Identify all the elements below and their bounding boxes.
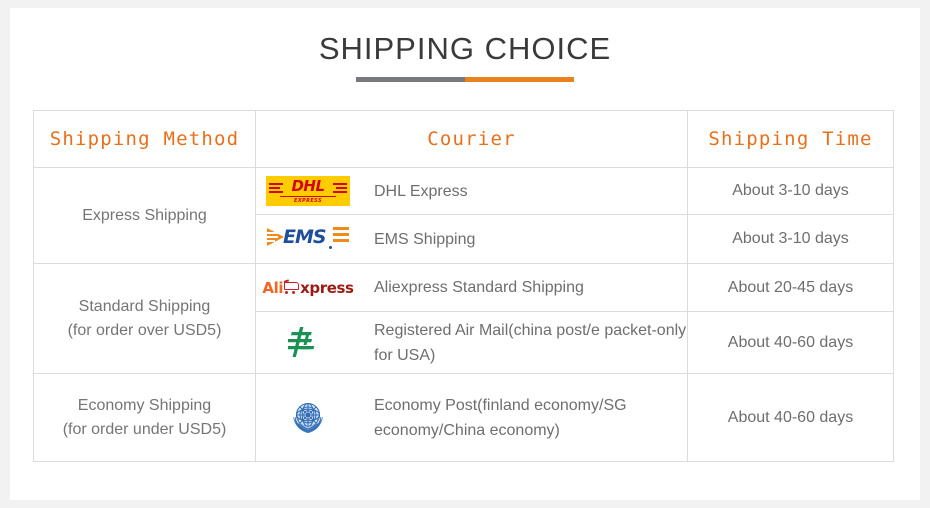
method-label: Express Shipping (34, 204, 255, 228)
shipping-table: Shipping Method Courier Shipping Time Ex… (33, 110, 894, 462)
header-shipping-method: Shipping Method (34, 111, 256, 168)
method-label: Economy Shipping (34, 394, 255, 418)
china-post-emblem-icon (288, 323, 328, 363)
header-courier: Courier (256, 111, 688, 168)
method-cell-standard: Standard Shipping (for order over USD5) (34, 264, 256, 374)
aliexpress-logo-part2: xpress (300, 280, 353, 296)
ems-logo-word: EMS (283, 227, 326, 248)
dhl-logo: DHL EXPRESS (256, 176, 360, 206)
courier-label: Economy Post(finland economy/SG economy/… (374, 393, 687, 443)
dhl-logo-sub: EXPRESS (266, 198, 350, 204)
courier-label: DHL Express (374, 179, 468, 204)
shipping-choice-card: SHIPPING CHOICE Shipping Method Courier … (10, 8, 920, 500)
time-cell: About 3-10 days (688, 168, 894, 215)
courier-cell-china-post: Registered Air Mail(china post/e packet-… (256, 312, 688, 374)
table-row: Express Shipping DHL EXPRESS (34, 168, 894, 215)
united-nations-emblem-icon (286, 396, 330, 440)
header-shipping-time: Shipping Time (688, 111, 894, 168)
china-post-logo (256, 323, 360, 363)
courier-label: EMS Shipping (374, 227, 475, 252)
title-underline-right (465, 77, 574, 82)
table-row: Economy Shipping (for order under USD5) (34, 374, 894, 462)
aliexpress-logo: Ali xpress (256, 280, 360, 296)
courier-cell-economy-post: Economy Post(finland economy/SG economy/… (256, 374, 688, 462)
courier-label: Registered Air Mail(china post/e packet-… (374, 318, 687, 368)
method-cell-economy: Economy Shipping (for order under USD5) (34, 374, 256, 462)
method-label: Standard Shipping (34, 295, 255, 319)
method-note: (for order over USD5) (34, 319, 255, 343)
courier-cell-dhl: DHL EXPRESS DHL Express (256, 168, 688, 215)
ems-logo: EMS (256, 225, 360, 253)
time-cell: About 40-60 days (688, 374, 894, 462)
time-cell: About 20-45 days (688, 264, 894, 312)
shopping-cart-icon (284, 281, 299, 294)
title-underline-left (356, 77, 465, 82)
courier-cell-aliexpress: Ali xpress Aliexpress Standard Shi (256, 264, 688, 312)
courier-label: Aliexpress Standard Shipping (374, 275, 584, 300)
table-row: Standard Shipping (for order over USD5) … (34, 264, 894, 312)
method-note: (for order under USD5) (34, 418, 255, 442)
method-cell-express: Express Shipping (34, 168, 256, 264)
table-header-row: Shipping Method Courier Shipping Time (34, 111, 894, 168)
title-underline (356, 77, 574, 82)
page-title: SHIPPING CHOICE (10, 30, 920, 68)
title-block: SHIPPING CHOICE (10, 30, 920, 82)
courier-cell-ems: EMS EMS Shipping (256, 215, 688, 264)
aliexpress-logo-part1: Ali (262, 280, 283, 296)
time-cell: About 3-10 days (688, 215, 894, 264)
time-cell: About 40-60 days (688, 312, 894, 374)
un-logo (256, 396, 360, 440)
dhl-logo-word: DHL (266, 179, 350, 194)
